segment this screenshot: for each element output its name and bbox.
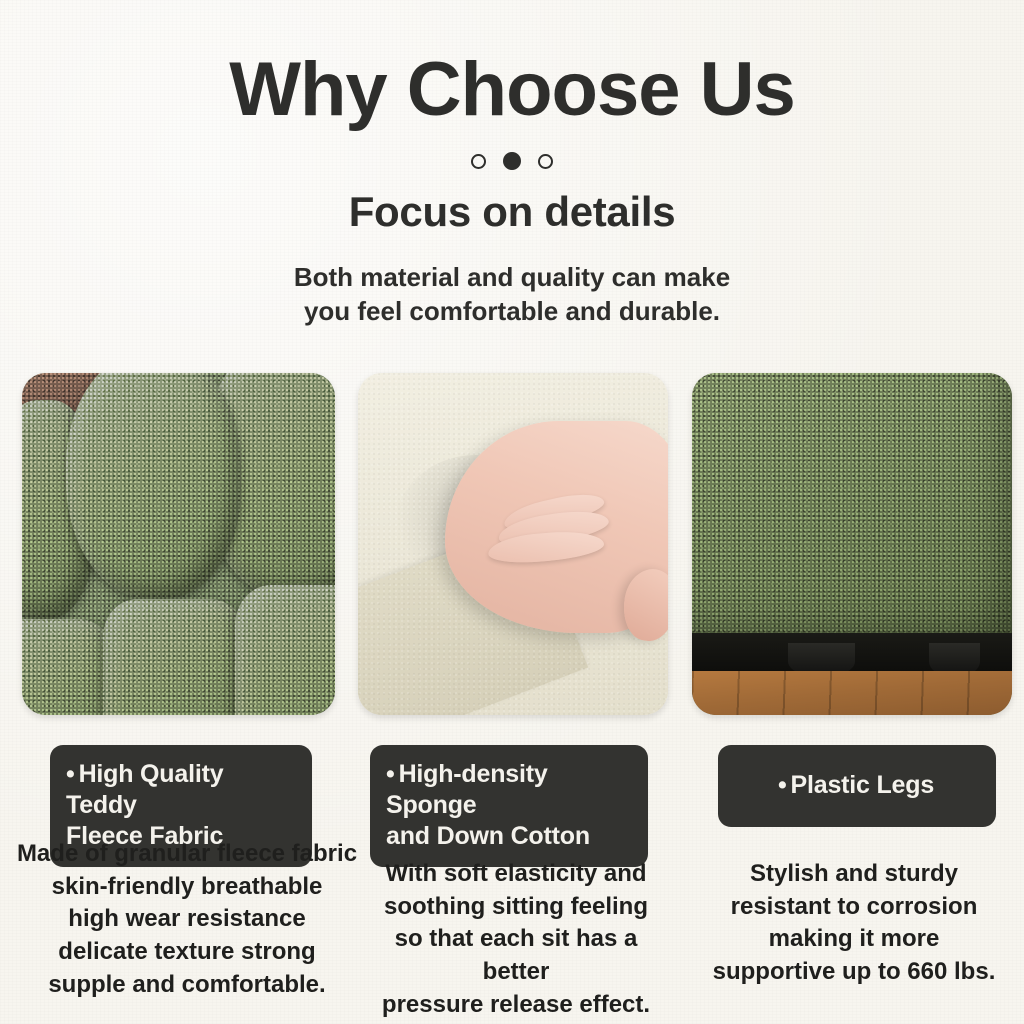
description-line: delicate texture strong bbox=[58, 938, 315, 965]
wooden-floor bbox=[692, 671, 1012, 715]
description-line: resistant to corrosion bbox=[731, 893, 978, 920]
lede-line-2: you feel comfortable and durable. bbox=[304, 296, 720, 326]
feature-badge-legs-line-1: Plastic Legs bbox=[791, 771, 935, 799]
bullet-icon: • bbox=[386, 760, 395, 788]
feature-badge-legs: •Plastic Legs bbox=[718, 745, 996, 827]
description-line: skin-friendly breathable bbox=[52, 873, 323, 900]
feature-image-card-fabric bbox=[22, 373, 335, 715]
description-line: making it more bbox=[769, 925, 940, 952]
sponge-photo bbox=[358, 373, 668, 715]
feature-image-card-legs bbox=[692, 373, 1012, 715]
fabric-photo bbox=[22, 373, 335, 715]
dot-hollow-left-icon bbox=[471, 154, 486, 169]
legs-photo bbox=[692, 373, 1012, 715]
page-lede: Both material and quality can make you f… bbox=[0, 260, 1024, 329]
feature-image-row bbox=[0, 373, 1024, 715]
dot-divider bbox=[0, 152, 1024, 170]
page-title: Why Choose Us bbox=[0, 0, 1024, 128]
description-line: high wear resistance bbox=[68, 905, 305, 932]
feature-badge-fabric-line-1: High Quality Teddy bbox=[66, 760, 223, 819]
dot-solid-center-icon bbox=[503, 152, 521, 170]
page-subtitle: Focus on details bbox=[0, 188, 1024, 236]
feature-badge-sponge-line-2: and Down Cotton bbox=[386, 822, 590, 850]
description-line: supple and comfortable. bbox=[48, 971, 325, 998]
feature-description-legs: Stylish and sturdy resistant to corrosio… bbox=[694, 858, 1014, 989]
description-line: pressure release effect. bbox=[382, 991, 650, 1018]
feature-description-fabric: Made of granular fleece fabric skin-frie… bbox=[12, 838, 362, 1001]
bullet-icon: • bbox=[66, 760, 75, 788]
lede-line-1: Both material and quality can make bbox=[294, 262, 730, 292]
feature-image-card-sponge bbox=[358, 373, 668, 715]
feature-description-sponge: With soft elasticity and soothing sittin… bbox=[366, 858, 666, 1021]
why-choose-us-infographic: Why Choose Us Focus on details Both mate… bbox=[0, 0, 1024, 1024]
description-line: soothing sitting feeling bbox=[384, 893, 648, 920]
feature-badge-sponge-line-1: High-density Sponge bbox=[386, 760, 548, 819]
feature-badge-sponge: •High-density Sponge and Down Cotton bbox=[370, 745, 648, 867]
description-line: Made of granular fleece fabric bbox=[17, 840, 357, 867]
description-line: so that each sit has a better bbox=[395, 925, 638, 985]
description-line: Stylish and sturdy bbox=[750, 860, 958, 887]
dot-hollow-right-icon bbox=[538, 154, 553, 169]
bullet-icon: • bbox=[778, 771, 787, 799]
boucle-texture-overlay bbox=[22, 373, 335, 715]
description-line: With soft elasticity and bbox=[385, 860, 646, 887]
description-line: supportive up to 660 lbs. bbox=[713, 958, 996, 985]
